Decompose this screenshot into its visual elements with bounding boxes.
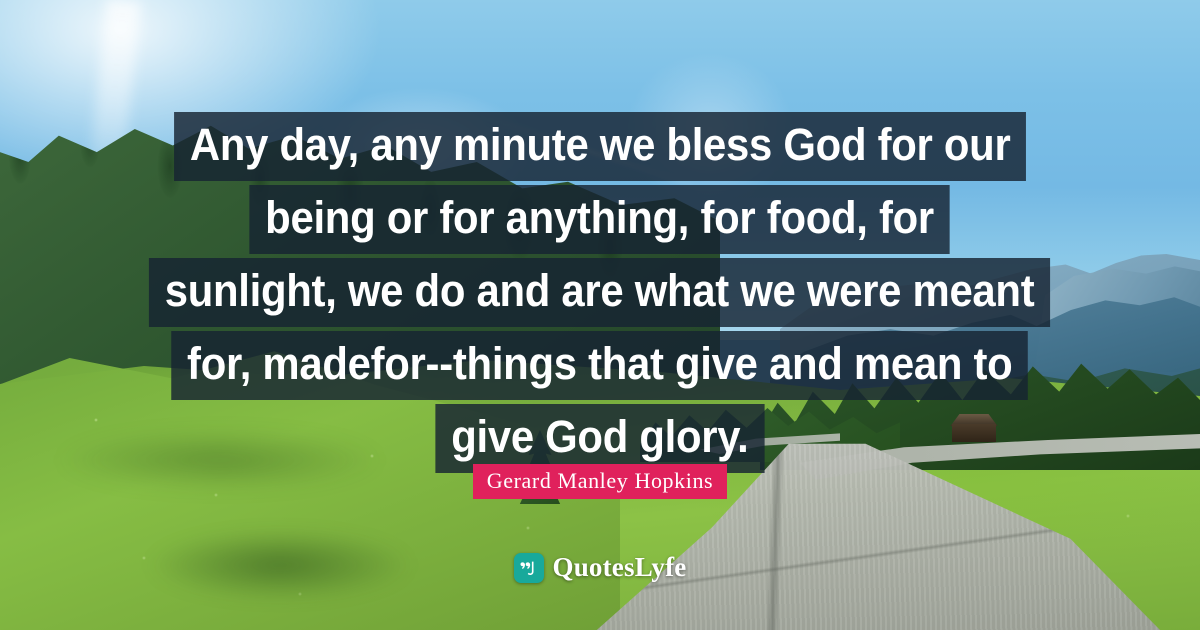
quote-card: Any day, any minute we bless God for our… — [0, 0, 1200, 630]
quote-line: sunlight, we do and are what we were mea… — [0, 258, 1200, 327]
quote-line: give God glory. — [0, 404, 1200, 473]
quote-line-text: give God glory. — [436, 404, 765, 473]
quote-line-text: being or for anything, for food, for — [250, 185, 950, 254]
quote-line-text: sunlight, we do and are what we were mea… — [149, 258, 1050, 327]
author-name: Gerard Manley Hopkins — [473, 464, 727, 499]
quote-line-text: for, madefor--things that give and mean … — [172, 331, 1029, 400]
quote-line: Any day, any minute we bless God for our — [0, 112, 1200, 181]
brand-logo[interactable]: QuotesLyfe — [0, 552, 1200, 583]
quote-mark-icon — [514, 553, 544, 583]
author-attribution: Gerard Manley Hopkins — [0, 464, 1200, 499]
quote-line-text: Any day, any minute we bless God for our — [174, 112, 1026, 181]
quote-line: being or for anything, for food, for — [0, 185, 1200, 254]
brand-name: QuotesLyfe — [553, 552, 687, 583]
quote-text-block: Any day, any minute we bless God for our… — [0, 112, 1200, 477]
quote-line: for, madefor--things that give and mean … — [0, 331, 1200, 400]
